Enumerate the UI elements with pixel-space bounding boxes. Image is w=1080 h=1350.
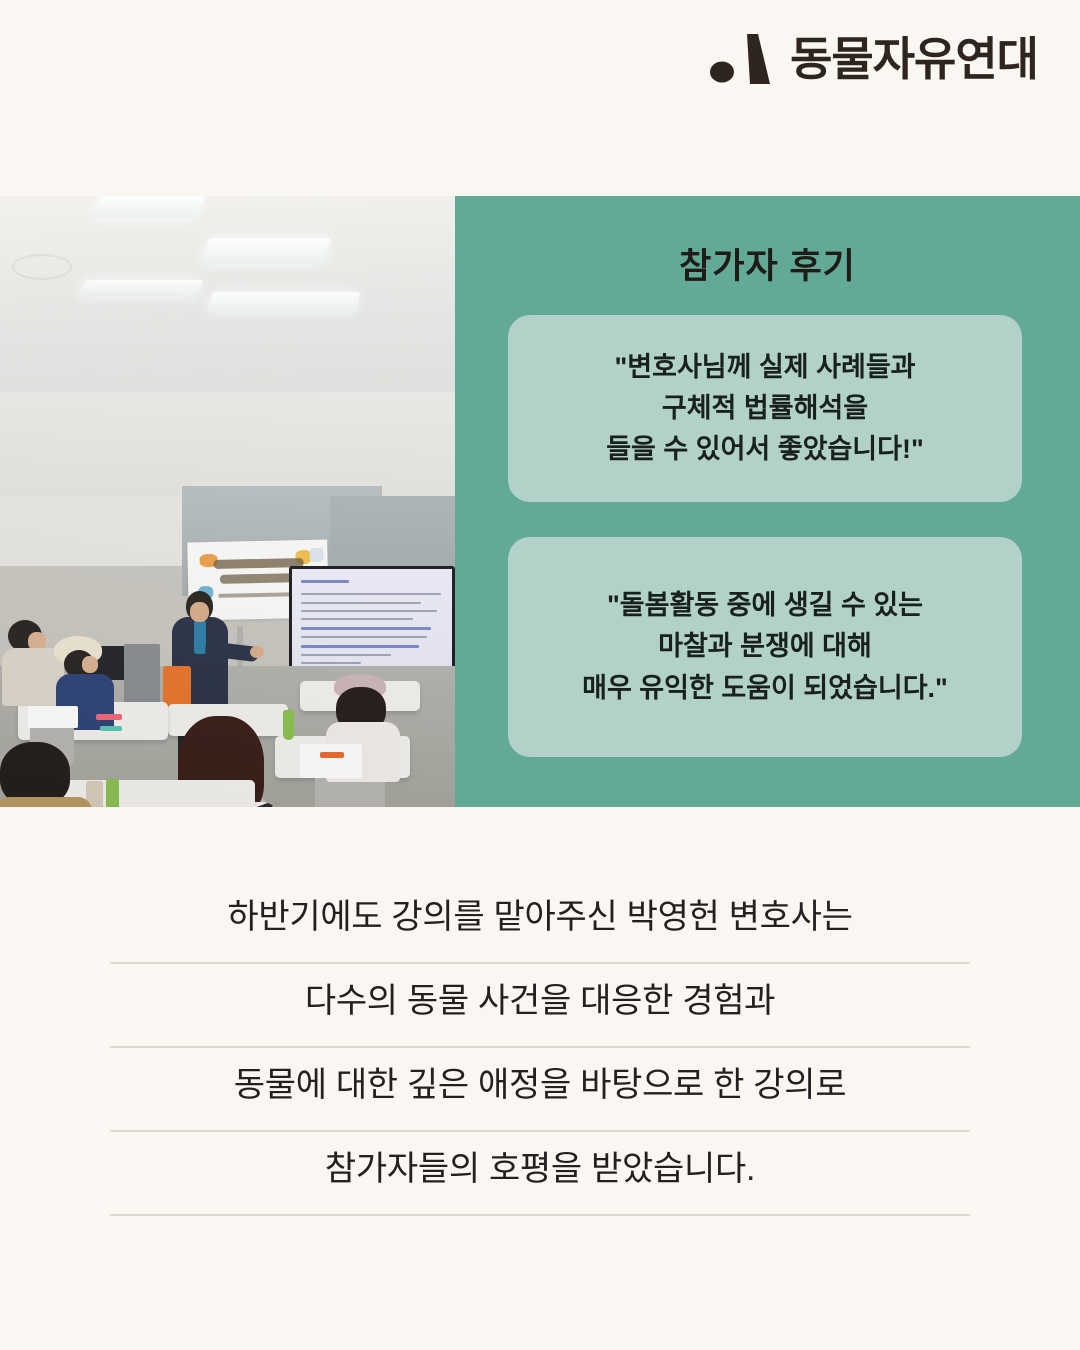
caption-line-text: 하반기에도 강의를 맡아주신 박영헌 변호사는 [227,897,852,938]
caption-line: 하반기에도 강의를 맡아주신 박영헌 변호사는 [110,880,970,964]
marker [100,726,122,731]
presenter-face [190,602,209,622]
review-card: "돌봄활동 중에 생길 수 있는 마찰과 분쟁에 대해 매우 유익한 도움이 되… [508,537,1022,757]
ceiling-vent [12,254,72,280]
media-band: 참가자 후기 "변호사님께 실제 사례들과 구체적 법률해석을 들을 수 있어서… [0,196,1080,807]
ceiling-light [78,280,203,296]
equipment-cabinet [124,644,160,708]
ceiling-light [208,292,361,312]
caption-line: 참가자들의 호평을 받았습니다. [110,1132,970,1216]
presentation-screen [289,566,455,673]
handout [300,744,362,778]
ceiling-light [89,196,206,218]
page-header: 동물자유연대 [0,0,1080,196]
ceiling-light [201,238,331,264]
review-text: "돌봄활동 중에 생길 수 있는 마찰과 분쟁에 대해 매우 유익한 도움이 되… [564,585,966,708]
brand-wordmark: 동물자유연대 [790,36,1038,82]
marker [320,752,344,758]
caption-line: 동물에 대한 깊은 애정을 바탕으로 한 강의로 [110,1048,970,1132]
orange-bag [163,666,191,706]
attendee [0,742,95,807]
caption-line: 다수의 동물 사건을 대응한 경험과 [110,964,970,1048]
handout [28,706,78,728]
caption-line-text: 다수의 동물 사건을 대응한 경험과 [305,981,775,1022]
brand-logo[interactable]: 동물자유연대 [710,32,1038,86]
drink-bottle [106,779,119,807]
participant-reviews-panel: 참가자 후기 "변호사님께 실제 사례들과 구체적 법률해석을 들을 수 있어서… [455,196,1080,807]
review-text: "변호사님께 실제 사례들과 구체적 법률해석을 들을 수 있어서 좋았습니다!… [588,347,942,470]
reviews-title: 참가자 후기 [455,238,1080,289]
caption-line-text: 참가자들의 호평을 받았습니다. [325,1149,755,1190]
marker [96,714,122,720]
side-wall [0,496,200,566]
caption-block: 하반기에도 강의를 맡아주신 박영헌 변호사는 다수의 동물 사건을 대응한 경… [0,880,1080,1216]
review-card: "변호사님께 실제 사례들과 구체적 법률해석을 들을 수 있어서 좋았습니다!… [508,315,1022,502]
presenter-hand [250,646,264,658]
lecture-room-photo [0,196,455,807]
animal-freedom-logo-icon [710,32,776,86]
caption-line-text: 동물에 대한 깊은 애정을 바탕으로 한 강의로 [234,1065,847,1106]
